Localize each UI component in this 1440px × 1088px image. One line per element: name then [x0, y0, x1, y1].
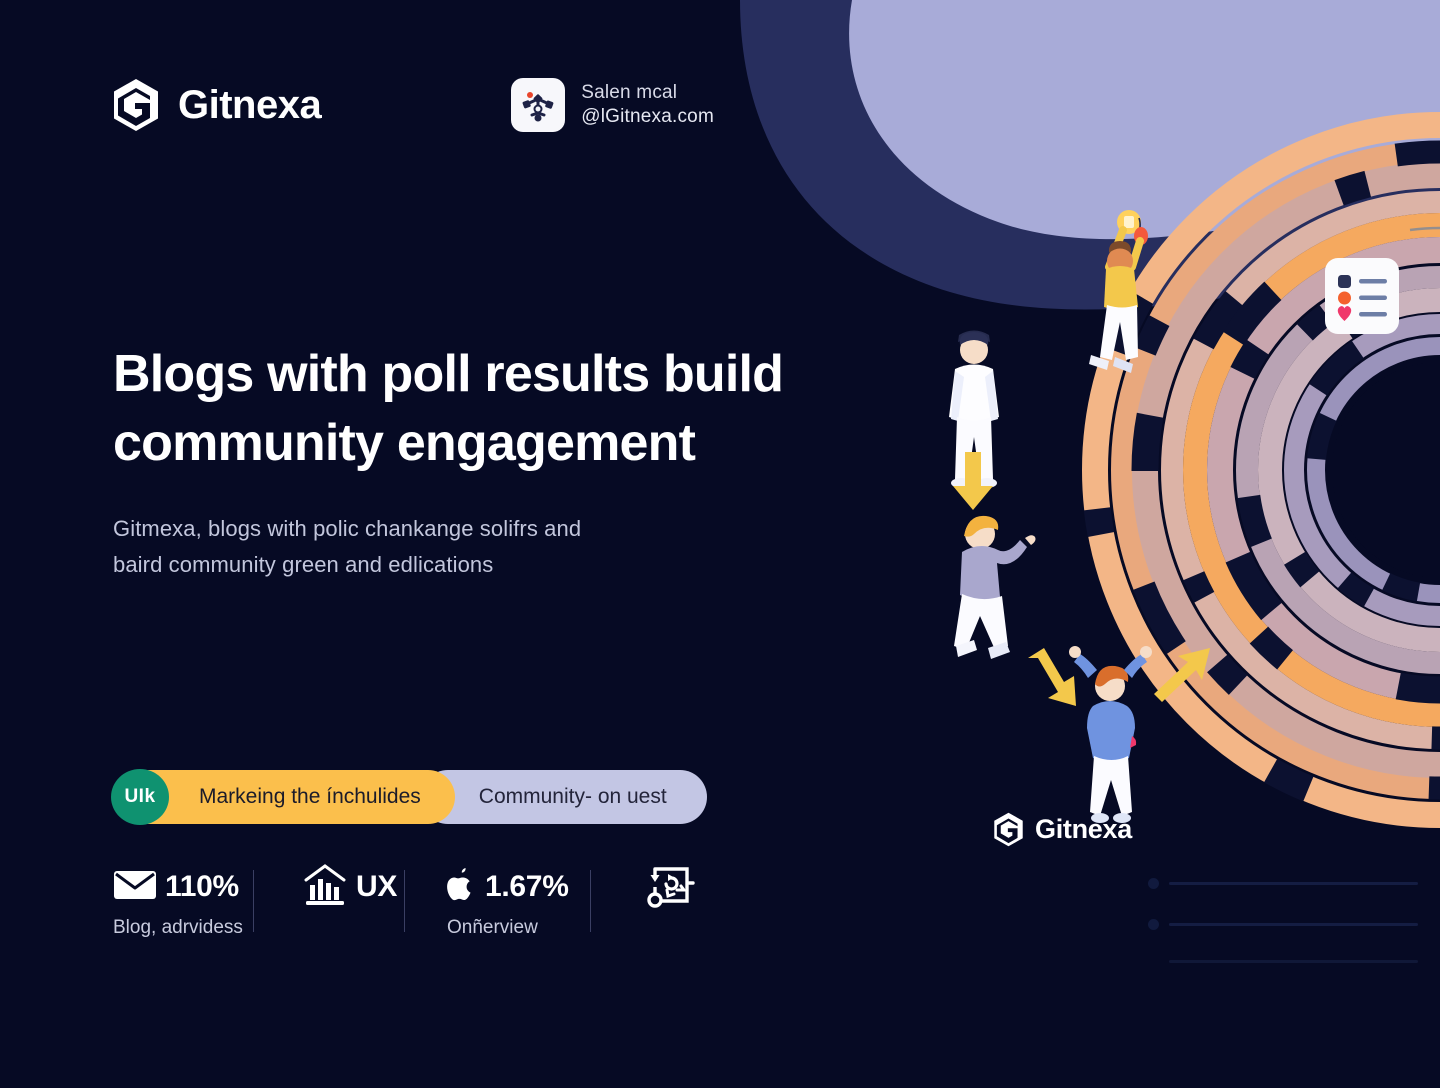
stat-top: 110%: [113, 866, 253, 908]
blob-dark-shape: [740, 0, 1440, 309]
list-item: [1148, 960, 1418, 963]
arrow-up-right-icon: [1150, 648, 1210, 702]
hero-copy: Blogs with poll results build community …: [113, 340, 833, 583]
stat-label: Blog, adrvidess: [113, 917, 253, 939]
page-header: Gitnexa Salen mcal @lGitnexa.com: [112, 78, 714, 132]
strategy-flow-icon: [641, 861, 695, 914]
headline-line-2: community engagement: [113, 414, 695, 472]
stat-top: UX: [302, 866, 404, 908]
background-blobs: [740, 0, 1440, 330]
subtitle-line-2: baird community green and edlications: [113, 552, 493, 577]
list-item: [1148, 878, 1418, 889]
illustration-brand-logo: Gitnexa: [993, 812, 1132, 847]
stat-item-ux: UX: [254, 866, 404, 917]
blob-light-shape: [766, 0, 1440, 308]
subtitle-line-1: Gitmexa, blogs with polic chankange soli…: [113, 516, 581, 541]
stat-value: UX: [356, 870, 397, 904]
brand-logo[interactable]: Gitnexa: [112, 78, 321, 132]
brand-name: Gitnexa: [178, 83, 321, 128]
primary-pill-label: Markeing the ínchulides: [199, 785, 421, 809]
person-standing-icon: [949, 331, 999, 489]
apple-icon: [447, 867, 477, 908]
contact-line-1: Salen mcal: [581, 82, 714, 104]
placeholder-bar: [1169, 960, 1418, 963]
person-lantern-icon: [1089, 210, 1148, 373]
stat-top: [641, 866, 731, 908]
placeholder-bar: [1169, 882, 1418, 885]
poster-canvas: Gitnexa Salen mcal @lGitnexa.com: [0, 0, 1440, 1088]
person-walking-icon: [954, 516, 1036, 659]
checklist-card-icon: [1325, 258, 1399, 334]
secondary-pill-label: Community- on uest: [479, 785, 667, 809]
placeholder-bar: [1169, 923, 1418, 926]
primary-pill-button[interactable]: UIk Markeing the ínchulides: [113, 770, 455, 824]
envelope-icon: [113, 869, 157, 906]
stat-value: 110%: [165, 870, 239, 904]
stat-item-overview: 1.67% Onñerview: [405, 866, 590, 939]
list-item: [1148, 919, 1418, 930]
headline-line-1: Blogs with poll results build: [113, 345, 783, 403]
stat-label: Onñerview: [447, 917, 590, 939]
hexagon-g-logo-icon: [112, 78, 160, 132]
arrow-down-left-icon: [1028, 648, 1076, 706]
network-nodes-icon: [511, 78, 565, 132]
placeholder-dot-icon: [1148, 919, 1159, 930]
stats-row: 110% Blog, adrvidess UX: [113, 866, 731, 939]
hexagon-g-logo-icon: [993, 812, 1024, 847]
stat-item-strategy: [591, 866, 731, 917]
avatar: UIk: [111, 769, 169, 825]
bank-chart-icon: [302, 863, 348, 912]
page-title: Blogs with poll results build community …: [113, 340, 833, 477]
stat-value: 1.67%: [485, 870, 569, 904]
avatar-label: UIk: [124, 786, 155, 808]
page-subtitle: Gitmexa, blogs with polic chankange soli…: [113, 511, 833, 582]
placeholder-dot-icon: [1148, 878, 1159, 889]
secondary-pill-button[interactable]: Community- on uest: [421, 770, 707, 824]
contact-text: Salen mcal @lGitnexa.com: [581, 82, 714, 128]
placeholder-rows: [1148, 878, 1418, 963]
contact-line-2: @lGitnexa.com: [581, 106, 714, 128]
arrow-down-icon: [953, 452, 993, 510]
person-cheering-icon: [1069, 646, 1152, 823]
pill-group: UIk Markeing the ínchulides Community- o…: [113, 770, 707, 824]
stat-top: 1.67%: [447, 866, 590, 908]
contact-block[interactable]: Salen mcal @lGitnexa.com: [511, 78, 714, 132]
segmented-concentric-ring-icon: [960, 0, 1440, 950]
stat-item-blog: 110% Blog, adrvidess: [113, 866, 253, 939]
illustration-brand-name: Gitnexa: [1035, 814, 1132, 845]
